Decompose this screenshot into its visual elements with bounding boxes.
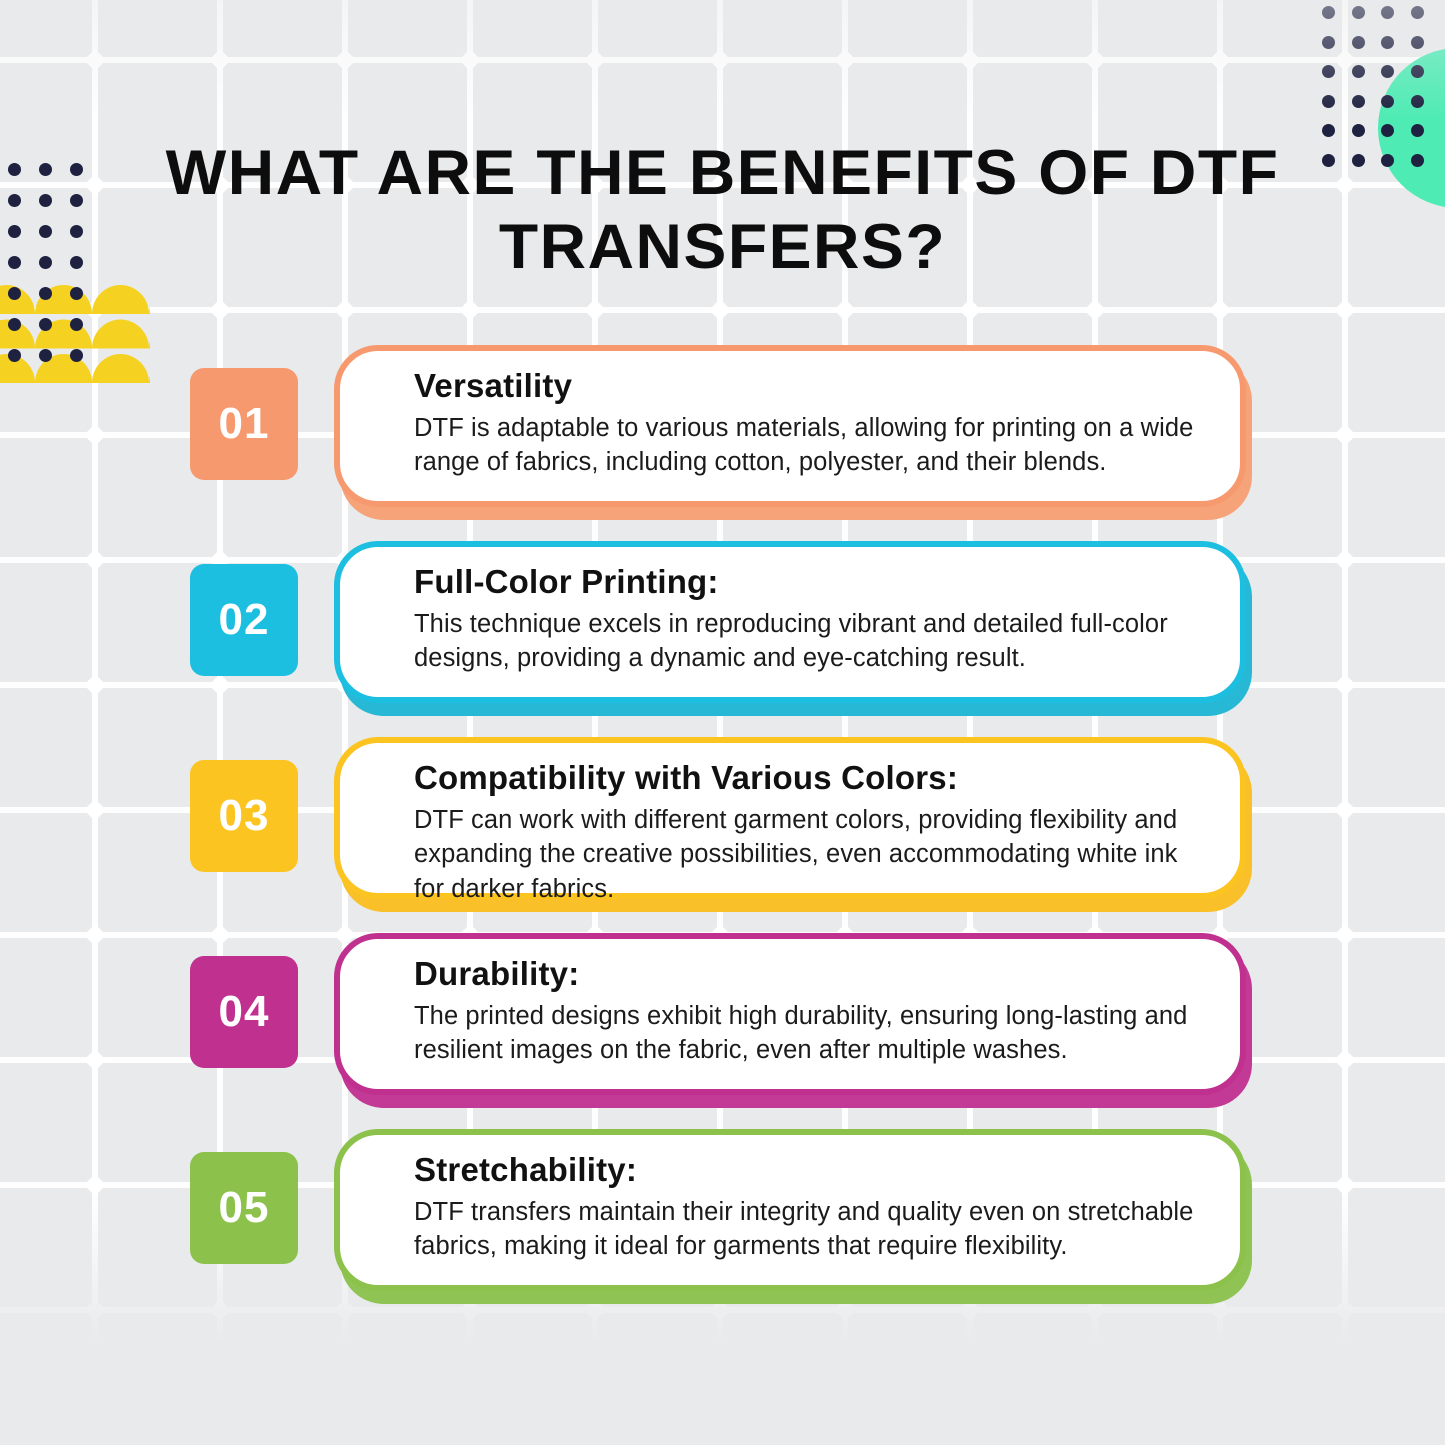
benefit-title: Durability: xyxy=(414,956,1206,992)
decorative-dot xyxy=(1322,6,1335,19)
grid-diamond xyxy=(1209,299,1231,321)
benefit-title: Compatibility with Various Colors: xyxy=(414,760,1206,796)
benefit-item: Full-Color Printing:This technique excel… xyxy=(0,536,1445,732)
grid-diamond xyxy=(334,299,356,321)
decorative-dot xyxy=(1411,154,1424,167)
infographic-page: WHAT ARE THE BENEFITS OF DTF TRANSFERS? … xyxy=(0,0,1445,1445)
benefit-description: The printed designs exhibit high durabil… xyxy=(414,999,1206,1067)
grid-diamond xyxy=(1209,49,1231,71)
decorative-dot xyxy=(1322,95,1335,108)
grid-diamond xyxy=(209,49,231,71)
grid-diamond xyxy=(834,299,856,321)
decorative-dot xyxy=(70,225,83,238)
grid-diamond xyxy=(84,174,106,196)
benefit-number-badge: 05 xyxy=(190,1152,298,1264)
benefit-card: Full-Color Printing:This technique excel… xyxy=(334,541,1246,703)
grid-diamond xyxy=(584,49,606,71)
benefit-card: VersatilityDTF is adaptable to various m… xyxy=(334,345,1246,507)
benefit-number-badge: 01 xyxy=(190,368,298,480)
benefit-item: Durability:The printed designs exhibit h… xyxy=(0,928,1445,1124)
grid-diamond xyxy=(209,299,231,321)
benefit-item: Compatibility with Various Colors:DTF ca… xyxy=(0,732,1445,928)
decorative-dot xyxy=(1322,36,1335,49)
grid-diamond xyxy=(334,49,356,71)
benefit-card: Durability:The printed designs exhibit h… xyxy=(334,933,1246,1095)
decorative-dot xyxy=(1352,65,1365,78)
benefit-item: Stretchability:DTF transfers maintain th… xyxy=(0,1124,1445,1320)
decorative-dot xyxy=(8,287,21,300)
decorative-dot xyxy=(39,194,52,207)
grid-diamond xyxy=(1084,299,1106,321)
decorative-dot xyxy=(1411,6,1424,19)
decorative-dot xyxy=(1322,65,1335,78)
grid-diamond xyxy=(1334,174,1356,196)
decorative-dot xyxy=(1352,95,1365,108)
benefit-card: Stretchability:DTF transfers maintain th… xyxy=(334,1129,1246,1291)
grid-diamond xyxy=(1334,299,1356,321)
benefit-title: Versatility xyxy=(414,368,1206,404)
decorative-dot xyxy=(1411,65,1424,78)
page-title-line-1: WHAT ARE THE BENEFITS OF DTF xyxy=(139,136,1307,210)
decorative-dot xyxy=(1381,65,1394,78)
benefit-item: VersatilityDTF is adaptable to various m… xyxy=(0,340,1445,536)
decorative-dot xyxy=(39,225,52,238)
decorative-dot xyxy=(1381,154,1394,167)
grid-diamond xyxy=(584,299,606,321)
decorative-dot xyxy=(1322,154,1335,167)
decorative-dot xyxy=(39,287,52,300)
benefit-number-badge: 03 xyxy=(190,760,298,872)
benefit-description: DTF can work with different garment colo… xyxy=(414,803,1206,905)
decorative-dot xyxy=(8,163,21,176)
decorative-dot xyxy=(1411,95,1424,108)
page-title-line-2: TRANSFERS? xyxy=(139,210,1307,284)
decorative-dot xyxy=(1381,6,1394,19)
dome-shape xyxy=(92,285,149,314)
decorative-dot xyxy=(1411,36,1424,49)
benefit-number-badge: 02 xyxy=(190,564,298,676)
page-title: WHAT ARE THE BENEFITS OF DTF TRANSFERS? xyxy=(139,136,1307,285)
grid-diamond xyxy=(834,49,856,71)
grid-diamond xyxy=(709,299,731,321)
decorative-dot xyxy=(39,256,52,269)
decorative-dot xyxy=(70,194,83,207)
grid-diamond xyxy=(709,49,731,71)
grid-diamond xyxy=(959,49,981,71)
decorative-dot xyxy=(39,318,52,331)
decorative-dot xyxy=(1381,36,1394,49)
decorative-dot xyxy=(1381,95,1394,108)
decorative-dot xyxy=(1352,6,1365,19)
decorative-dot xyxy=(1322,124,1335,137)
benefit-description: DTF transfers maintain their integrity a… xyxy=(414,1195,1206,1263)
decorative-dot xyxy=(1411,124,1424,137)
decorative-dot xyxy=(39,163,52,176)
benefit-card: Compatibility with Various Colors:DTF ca… xyxy=(334,737,1246,899)
decorative-dot xyxy=(1352,154,1365,167)
grid-diamond xyxy=(459,299,481,321)
benefit-title: Full-Color Printing: xyxy=(414,564,1206,600)
decorative-dot xyxy=(70,163,83,176)
decorative-dot xyxy=(70,256,83,269)
grid-diamond xyxy=(959,299,981,321)
decorative-dot xyxy=(8,318,21,331)
decorative-dot xyxy=(8,256,21,269)
decorative-dot xyxy=(1381,124,1394,137)
benefit-title: Stretchability: xyxy=(414,1152,1206,1188)
decorative-dot xyxy=(1352,124,1365,137)
decorative-dot xyxy=(70,287,83,300)
decorative-dot xyxy=(8,225,21,238)
benefit-number-badge: 04 xyxy=(190,956,298,1068)
grid-diamond xyxy=(1084,49,1106,71)
decorative-dot xyxy=(1352,36,1365,49)
decorative-dot xyxy=(8,194,21,207)
decorative-dot xyxy=(70,318,83,331)
dome-shape xyxy=(149,285,150,314)
grid-diamond xyxy=(84,49,106,71)
benefits-list: VersatilityDTF is adaptable to various m… xyxy=(0,340,1445,1320)
benefit-description: This technique excels in reproducing vib… xyxy=(414,607,1206,675)
benefit-description: DTF is adaptable to various materials, a… xyxy=(414,411,1206,479)
grid-diamond xyxy=(459,49,481,71)
